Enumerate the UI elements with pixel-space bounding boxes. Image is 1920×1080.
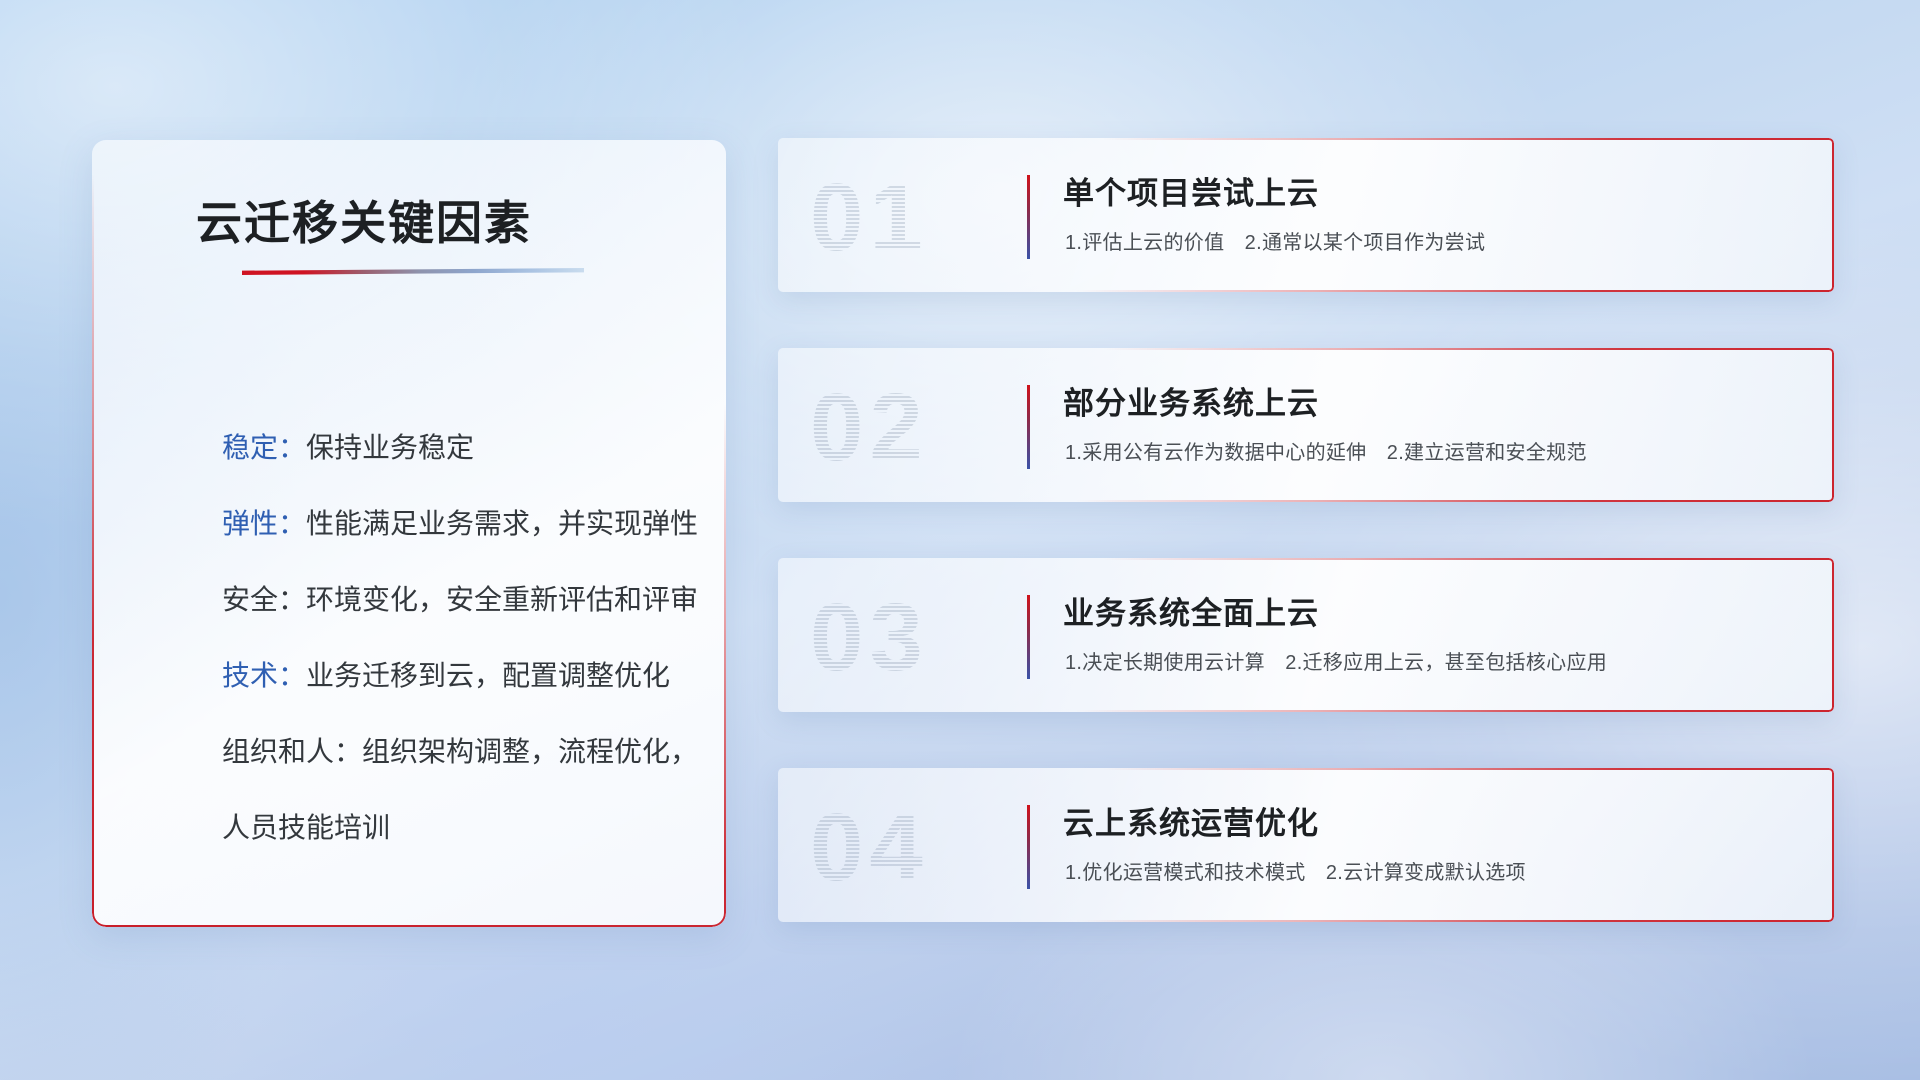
card-title: 部分业务系统上云: [1063, 378, 1319, 423]
factor-key: 组织和人：: [222, 736, 362, 767]
factor-value: 组织架构调整，流程优化，: [362, 736, 698, 767]
card-description: 1.评估上云的价值 2.通常以某个项目作为尝试: [1065, 226, 1485, 255]
factor-key: 稳定：: [222, 432, 306, 463]
card-number-ghost: 02: [810, 376, 990, 480]
factor-key: 安全：: [222, 584, 306, 615]
factor-value: 性能满足业务需求，并实现弹性: [306, 508, 698, 539]
factor-key: 技术：: [222, 660, 306, 691]
card-title: 单个项目尝试上云: [1063, 168, 1319, 213]
stage-card-list: 01 单个项目尝试上云 1.评估上云的价值 2.通常以某个项目作为尝试 02 部…: [778, 138, 1834, 978]
factor-row: 组织和人：组织架构调整，流程优化，: [222, 714, 692, 790]
card-number-ghost: 04: [810, 796, 990, 900]
card-divider: [1027, 175, 1030, 259]
factor-row: 技术：业务迁移到云，配置调整优化: [222, 638, 692, 714]
panel-title-underline: [242, 268, 584, 275]
factor-row: 弹性：性能满足业务需求，并实现弹性: [222, 486, 692, 562]
factor-row: 安全：环境变化，安全重新评估和评审: [222, 562, 692, 638]
stage-card[interactable]: 04 云上系统运营优化 1.优化运营模式和技术模式 2.云计算变成默认选项: [778, 768, 1834, 922]
factor-list: 稳定：保持业务稳定 弹性：性能满足业务需求，并实现弹性 安全：环境变化，安全重新…: [222, 410, 692, 866]
factor-value: 保持业务稳定: [306, 432, 474, 463]
panel-title: 云迁移关键因素: [196, 187, 532, 253]
card-divider: [1027, 805, 1030, 889]
stage-card[interactable]: 03 业务系统全面上云 1.决定长期使用云计算 2.迁移应用上云，甚至包括核心应…: [778, 558, 1834, 712]
key-factors-panel: 云迁移关键因素 稳定：保持业务稳定 弹性：性能满足业务需求，并实现弹性 安全：环…: [92, 140, 726, 927]
card-title: 业务系统全面上云: [1063, 588, 1319, 633]
stage-card[interactable]: 02 部分业务系统上云 1.采用公有云作为数据中心的延伸 2.建立运营和安全规范: [778, 348, 1834, 502]
factor-value: 环境变化，安全重新评估和评审: [306, 584, 698, 615]
factor-row: 稳定：保持业务稳定: [222, 410, 692, 486]
factor-value: 人员技能培训: [222, 812, 390, 843]
card-description: 1.优化运营模式和技术模式 2.云计算变成默认选项: [1065, 856, 1526, 885]
card-divider: [1027, 595, 1030, 679]
stage-card[interactable]: 01 单个项目尝试上云 1.评估上云的价值 2.通常以某个项目作为尝试: [778, 138, 1834, 292]
card-title: 云上系统运营优化: [1063, 798, 1319, 843]
factor-value: 业务迁移到云，配置调整优化: [306, 660, 670, 691]
card-description: 1.采用公有云作为数据中心的延伸 2.建立运营和安全规范: [1065, 436, 1587, 465]
card-description: 1.决定长期使用云计算 2.迁移应用上云，甚至包括核心应用: [1065, 646, 1607, 675]
card-divider: [1027, 385, 1030, 469]
factor-row: 人员技能培训: [222, 790, 692, 866]
card-number-ghost: 03: [810, 586, 990, 690]
card-number-ghost: 01: [810, 166, 990, 270]
slide-stage: 云迁移关键因素 稳定：保持业务稳定 弹性：性能满足业务需求，并实现弹性 安全：环…: [0, 0, 1920, 1080]
panel-content: 云迁移关键因素 稳定：保持业务稳定 弹性：性能满足业务需求，并实现弹性 安全：环…: [92, 140, 726, 927]
factor-key: 弹性：: [222, 508, 306, 539]
